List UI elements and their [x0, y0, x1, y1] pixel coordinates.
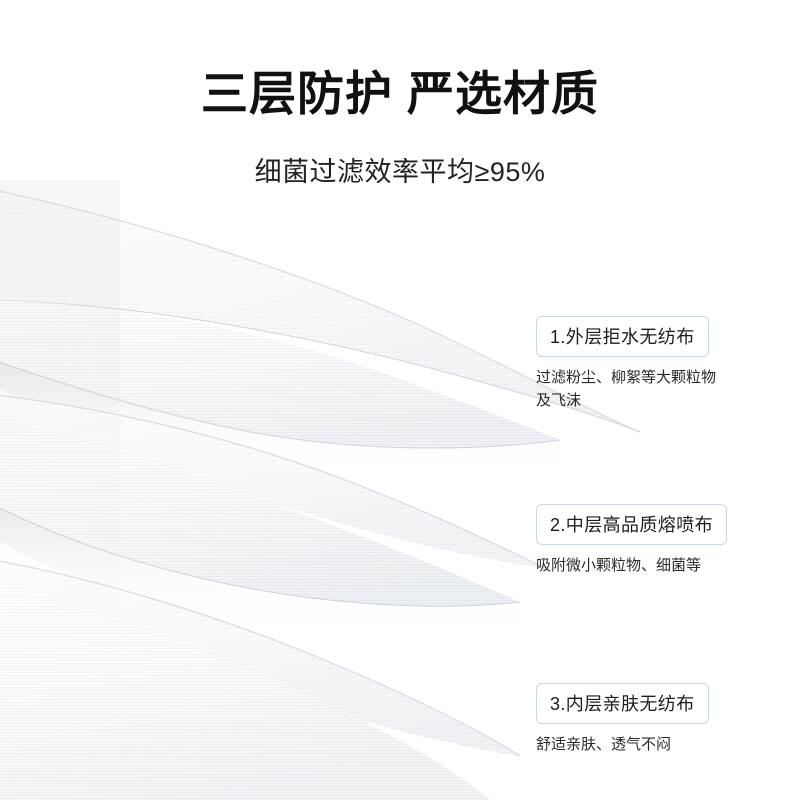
callout-middle-layer-label: 2.中层高品质熔喷布: [536, 504, 727, 545]
callout-outer-layer-label: 1.外层拒水无纺布: [536, 316, 709, 357]
callout-middle-layer: 2.中层高品质熔喷布 吸附微小颗粒物、细菌等: [536, 504, 727, 577]
page-subtitle: 细菌过滤效率平均≥95%: [0, 155, 800, 190]
callout-middle-layer-description: 吸附微小颗粒物、细菌等: [536, 554, 727, 577]
callout-inner-layer-label: 3.内层亲肤无纺布: [536, 683, 709, 724]
product-infographic: 三层防护 严选材质 细菌过滤效率平均≥95% 1.外层拒水无纺布 过滤粉尘、柳絮…: [0, 0, 800, 800]
callout-inner-layer-description: 舒适亲肤、透气不闷: [536, 733, 709, 756]
callout-inner-layer: 3.内层亲肤无纺布 舒适亲肤、透气不闷: [536, 683, 709, 756]
callout-outer-layer-description: 过滤粉尘、柳絮等大颗粒物 及飞沫: [536, 366, 716, 413]
callout-outer-layer: 1.外层拒水无纺布 过滤粉尘、柳絮等大颗粒物 及飞沫: [536, 316, 716, 413]
page-title: 三层防护 严选材质: [0, 66, 800, 122]
